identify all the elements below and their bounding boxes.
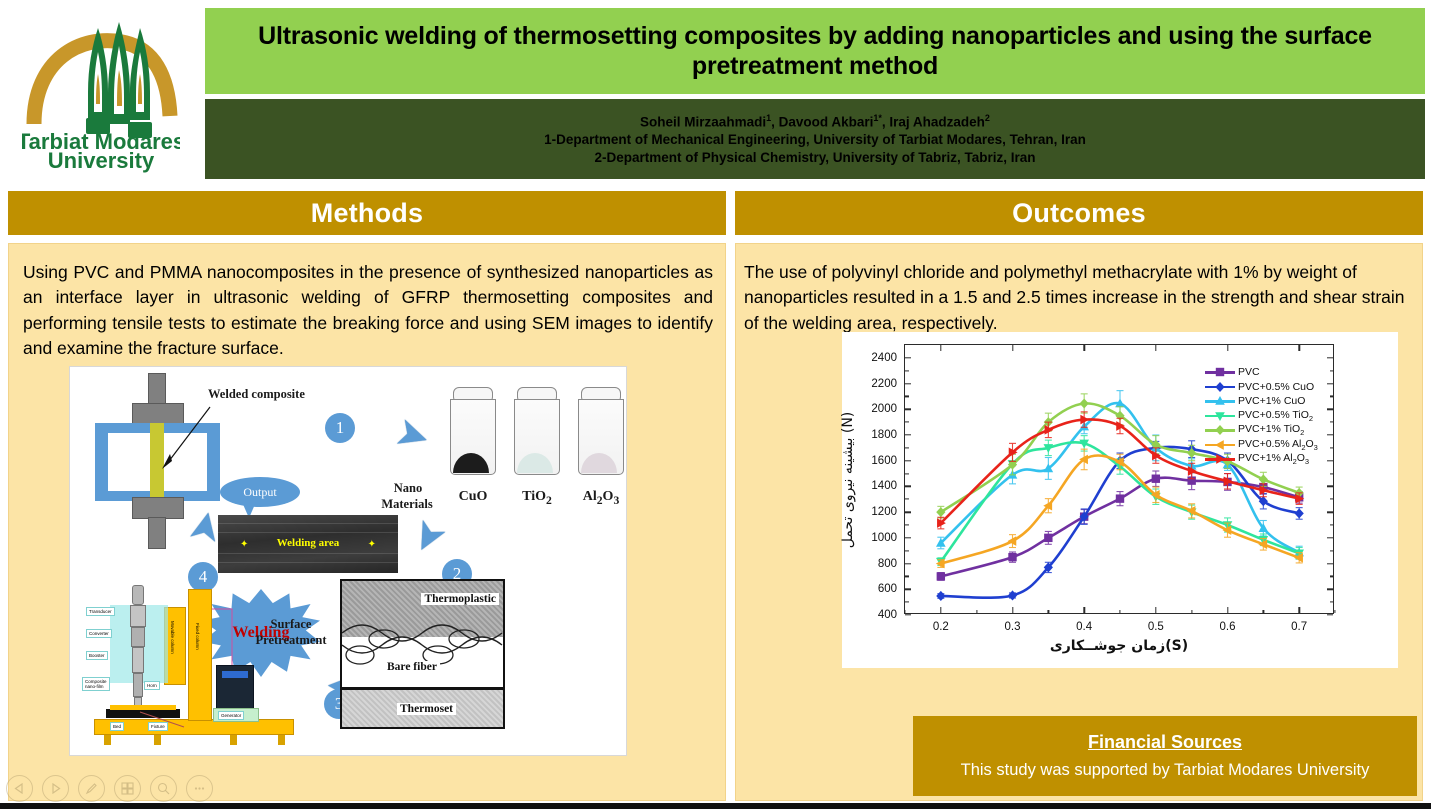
chart-y-tick-mark <box>1327 409 1333 410</box>
chart-y-tick-mark <box>905 589 911 590</box>
machine-label-bed: Bed <box>110 722 124 731</box>
author-affiliation-bar: Soheil Mirzaahmadi1, Davood Akbari1*, Ir… <box>205 99 1425 179</box>
chart-legend-label: PVC <box>1238 366 1260 378</box>
financial-sources-title: Financial Sources <box>1088 732 1242 753</box>
chart-y-tick-mark <box>1327 563 1333 564</box>
chart-legend-item: PVC+0.5% CuO <box>1205 380 1318 395</box>
outcomes-panel: The use of polyvinyl chloride and polyme… <box>735 243 1423 801</box>
chart-legend-swatch <box>1205 366 1235 378</box>
chart-y-minor-tick <box>905 396 909 397</box>
chart-y-tick-mark <box>905 383 911 384</box>
chart-y-tick-mark <box>1327 486 1333 487</box>
chart-y-tick-label: 2000 <box>871 403 897 415</box>
chart-y-tick-mark <box>905 563 911 564</box>
chart-y-minor-tick <box>1330 499 1334 500</box>
chart-y-minor-tick <box>905 524 909 525</box>
chart-y-tick-mark <box>1327 357 1333 358</box>
chart-y-minor-tick <box>1330 576 1334 577</box>
chart-y-minor-tick <box>1330 447 1334 448</box>
chart-legend-label: PVC+1% CuO <box>1238 395 1305 407</box>
zoom-icon[interactable] <box>150 775 177 802</box>
chart-x-tick-mark <box>1298 345 1299 351</box>
outcomes-title: Outcomes <box>1012 198 1146 229</box>
methods-panel: Using PVC and PMMA nanocomposites in the… <box>8 243 726 801</box>
chart-y-tick-mark <box>905 614 911 615</box>
chart-y-tick-mark <box>905 537 911 538</box>
chart-x-tick-label: 0.6 <box>1220 621 1236 633</box>
thermoset-label: Thermoset <box>397 703 456 715</box>
methods-title: Methods <box>311 198 423 229</box>
chart-x-minor-tick <box>1191 610 1192 614</box>
all-slides-icon[interactable] <box>114 775 141 802</box>
welded-composite-label: Welded composite <box>208 387 305 402</box>
methods-body-text: Using PVC and PMMA nanocomposites in the… <box>23 260 713 362</box>
arrow-step4-icon: ➤ <box>182 506 228 547</box>
chart-x-tick-label: 0.3 <box>1005 621 1021 633</box>
bottle-cuo-label: CuO <box>448 489 498 505</box>
author-list: Soheil Mirzaahmadi1, Davood Akbari1*, Ir… <box>640 113 990 130</box>
more-options-icon[interactable] <box>186 775 213 802</box>
chart-x-tick-mark <box>1155 607 1156 613</box>
output-callout: Output <box>220 477 300 507</box>
nano-materials-label-line2: Materials <box>369 497 445 512</box>
pen-icon[interactable] <box>78 775 105 802</box>
chart-legend-swatch <box>1205 453 1235 465</box>
chart-x-tick-mark <box>1298 607 1299 613</box>
bottle-tio2 <box>512 385 562 475</box>
chart-x-tick-mark <box>1012 345 1013 351</box>
logo-name-line2: University <box>48 148 155 173</box>
machine-label-transducer: Transducer <box>86 607 115 616</box>
chart-legend-swatch <box>1205 410 1235 422</box>
chart-x-tick-mark <box>1227 607 1228 613</box>
chart-y-minor-tick <box>905 473 909 474</box>
chart-y-tick-mark <box>905 434 911 435</box>
chart-legend-item: PVC+0.5% Al2O3 <box>1205 438 1318 453</box>
outcomes-body-text: The use of polyvinyl chloride and polyme… <box>744 260 1416 336</box>
university-logo: Tarbiat Modares University <box>0 0 200 186</box>
chart-y-minor-tick <box>905 447 909 448</box>
chart-y-tick-mark <box>1327 614 1333 615</box>
methods-process-diagram: Welded composite Tensile Test Nano Mater… <box>69 366 627 756</box>
arrow-step1-icon: ➤ <box>391 411 435 459</box>
chart-legend-swatch <box>1205 395 1235 407</box>
chart-x-minor-tick <box>1334 610 1335 614</box>
chart-legend-item: PVC+1% CuO <box>1205 394 1318 409</box>
chart-y-minor-tick <box>905 499 909 500</box>
chart-x-tick-mark <box>1083 345 1084 351</box>
machine-label-fixed-column: Fixed column <box>195 623 200 650</box>
welding-area-photo: ✦ ✦ Welding area <box>218 515 398 573</box>
arrow-step2-icon: ➤ <box>403 513 454 561</box>
chart-y-minor-tick <box>1330 396 1334 397</box>
chart-y-axis-label: بیشینه نیروی تحمل (N) <box>840 412 856 549</box>
chart-y-tick-label: 2400 <box>871 352 897 364</box>
chart-legend: PVCPVC+0.5% CuOPVC+1% CuOPVC+0.5% TiO2PV… <box>1205 365 1318 467</box>
results-chart: بیشینه نیروی تحمل (N) زمان جوشــکاری(S) … <box>842 332 1398 668</box>
machine-label-generator: Generator <box>218 711 244 720</box>
chart-y-tick-mark <box>905 409 911 410</box>
chart-y-tick-label: 1200 <box>871 506 897 518</box>
chart-y-tick-label: 1600 <box>871 455 897 467</box>
chart-legend-item: PVC+1% Al2O3 <box>1205 452 1318 467</box>
chart-y-minor-tick <box>1330 473 1334 474</box>
chart-y-minor-tick <box>905 602 909 603</box>
chart-y-minor-tick <box>905 370 909 371</box>
bottle-tio2-label: TiO2 <box>510 489 564 507</box>
bottle-al2o3 <box>576 385 626 475</box>
financial-sources-text: This study was supported by Tarbiat Moda… <box>961 761 1370 780</box>
chart-x-tick-mark <box>1083 607 1084 613</box>
chart-y-tick-label: 800 <box>878 558 897 570</box>
chart-y-tick-label: 1000 <box>871 532 897 544</box>
financial-sources-box: Financial Sources This study was support… <box>913 716 1417 796</box>
chart-legend-label: PVC+1% TiO2 <box>1238 423 1304 437</box>
bare-fiber-label: Bare fiber <box>384 661 440 673</box>
ultrasonic-welding-machine-schematic: Transducer Converter Booster Movable col… <box>80 567 320 747</box>
chart-x-minor-tick <box>1263 610 1264 614</box>
chart-x-minor-tick <box>1048 610 1049 614</box>
chart-y-tick-label: 1800 <box>871 429 897 441</box>
welding-area-label: Welding area <box>218 537 398 549</box>
machine-label-booster: Booster <box>86 651 108 660</box>
chart-y-tick-label: 2200 <box>871 378 897 390</box>
chart-x-tick-label: 0.5 <box>1148 621 1164 633</box>
chart-y-tick-mark <box>1327 537 1333 538</box>
chart-legend-label: PVC+0.5% Al2O3 <box>1238 438 1318 452</box>
chart-y-tick-label: 1400 <box>871 480 897 492</box>
chart-x-minor-tick <box>976 610 977 614</box>
machine-wiring <box>80 567 320 747</box>
chart-y-tick-mark <box>1327 383 1333 384</box>
chart-x-minor-tick <box>1119 610 1120 614</box>
chart-y-minor-tick <box>905 550 909 551</box>
chart-legend-label: PVC+0.5% TiO2 <box>1238 409 1313 423</box>
previous-slide-icon[interactable] <box>6 775 33 802</box>
chart-x-tick-label: 0.2 <box>933 621 949 633</box>
chart-y-minor-tick <box>905 422 909 423</box>
methods-section-header: Methods <box>8 191 726 235</box>
chart-y-minor-tick <box>905 576 909 577</box>
chart-y-tick-mark <box>905 460 911 461</box>
screen-bottom-bar <box>0 803 1431 809</box>
poster-header: Tarbiat Modares University Ultrasonic we… <box>0 0 1431 186</box>
poster-title: Ultrasonic welding of thermosetting comp… <box>219 21 1411 82</box>
chart-y-tick-mark <box>905 511 911 512</box>
chart-y-tick-label: 600 <box>878 583 897 595</box>
machine-label-composite-nano-film: Compositenano-film <box>82 677 110 691</box>
chart-y-tick-mark <box>1327 589 1333 590</box>
chart-y-minor-tick <box>1330 550 1334 551</box>
chart-legend-item: PVC <box>1205 365 1318 380</box>
chart-y-minor-tick <box>1330 524 1334 525</box>
chart-x-tick-label: 0.4 <box>1076 621 1092 633</box>
affiliation-2: 2-Department of Physical Chemistry, Univ… <box>594 150 1035 165</box>
bottle-al2o3-label: Al2O3 <box>572 489 630 507</box>
next-slide-icon[interactable] <box>42 775 69 802</box>
chart-y-tick-mark <box>1327 460 1333 461</box>
machine-label-movable-column: Movable column <box>170 621 175 654</box>
chart-x-tick-mark <box>1155 345 1156 351</box>
chart-legend-swatch <box>1205 439 1235 451</box>
thermoplastic-label: Thermoplastic <box>421 593 499 605</box>
chart-y-tick-label: 400 <box>878 609 897 621</box>
machine-label-converter: Converter <box>86 629 112 638</box>
nano-materials-label-line1: Nano <box>382 481 434 496</box>
surface-pretreatment-schematic: Thermoplastic Bare fiber Thermoset <box>340 579 505 729</box>
chart-x-tick-mark <box>940 607 941 613</box>
affiliation-1: 1-Department of Mechanical Engineering, … <box>544 132 1086 147</box>
chart-legend-swatch <box>1205 424 1235 436</box>
chart-x-minor-tick <box>904 610 905 614</box>
chart-legend-label: PVC+0.5% CuO <box>1238 381 1314 393</box>
poster-title-bar: Ultrasonic welding of thermosetting comp… <box>205 8 1425 94</box>
machine-label-fixture: Fixture <box>148 722 168 731</box>
chart-x-tick-mark <box>1227 345 1228 351</box>
presentation-toolbar[interactable] <box>0 770 225 806</box>
chart-legend-item: PVC+1% TiO2 <box>1205 423 1318 438</box>
chart-legend-swatch <box>1205 381 1235 393</box>
welded-composite-pointer <box>160 405 212 471</box>
chart-x-tick-mark <box>940 345 941 351</box>
chart-x-tick-mark <box>1012 607 1013 613</box>
chart-y-tick-mark <box>1327 434 1333 435</box>
bottle-cuo <box>448 385 498 475</box>
fiber-weave-curves <box>342 615 505 691</box>
chart-y-minor-tick <box>1330 602 1334 603</box>
outcomes-section-header: Outcomes <box>735 191 1423 235</box>
chart-y-minor-tick <box>1330 422 1334 423</box>
machine-label-horn: Horn <box>144 681 160 690</box>
chart-y-tick-mark <box>905 486 911 487</box>
tarbiat-modares-logo-mark: Tarbiat Modares University <box>22 12 180 174</box>
chart-x-axis-label: زمان جوشــکاری(S) <box>1050 638 1188 654</box>
chart-legend-label: PVC+1% Al2O3 <box>1238 452 1309 466</box>
chart-plot-area: 4006008001000120014001600180020002200240… <box>904 344 1334 614</box>
chart-x-tick-label: 0.7 <box>1291 621 1307 633</box>
chart-y-minor-tick <box>1330 370 1334 371</box>
chart-y-tick-mark <box>1327 511 1333 512</box>
chart-y-tick-mark <box>905 357 911 358</box>
chart-legend-item: PVC+0.5% TiO2 <box>1205 409 1318 424</box>
step-number-1: 1 <box>325 413 355 443</box>
